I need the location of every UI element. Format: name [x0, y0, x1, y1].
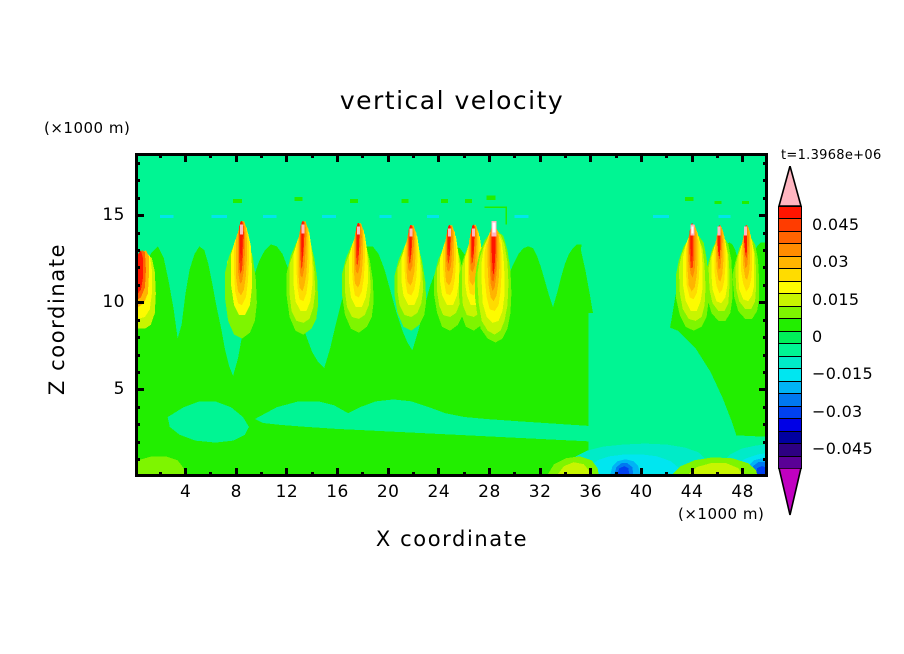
- x-axis-tick: [336, 153, 339, 162]
- y-axis-minor-tick: [135, 458, 140, 461]
- timestamp-annotation: t=1.3968e+06: [781, 148, 882, 163]
- y-axis-minor-tick: [763, 336, 768, 339]
- x-axis-minor-tick: [311, 472, 314, 477]
- x-axis-tick: [539, 468, 542, 477]
- x-axis-minor-tick: [311, 153, 314, 158]
- y-axis-minor-tick: [135, 197, 140, 200]
- x-axis-minor-tick: [513, 472, 516, 477]
- y-axis-minor-tick: [135, 284, 140, 287]
- x-axis-minor-tick: [159, 153, 162, 158]
- x-axis-tick: [437, 153, 440, 162]
- x-axis-tick: [387, 153, 390, 162]
- y-axis-minor-tick: [763, 458, 768, 461]
- colorbar-tick-label: −0.045: [812, 439, 873, 458]
- x-axis-tick: [235, 153, 238, 162]
- x-axis-tick: [741, 468, 744, 477]
- x-axis-tick: [285, 153, 288, 162]
- y-axis-minor-tick: [763, 249, 768, 252]
- y-axis-minor-tick: [763, 371, 768, 374]
- y-axis-tick: [135, 301, 144, 304]
- x-axis-tick: [184, 153, 187, 162]
- x-axis-minor-tick: [716, 472, 719, 477]
- y-axis-minor-tick: [135, 266, 140, 269]
- y-axis-minor-tick: [763, 162, 768, 165]
- x-axis-minor-tick: [615, 153, 618, 158]
- x-axis-tick: [539, 153, 542, 162]
- y-axis-tick-label: 15: [65, 205, 125, 225]
- y-axis-minor-tick: [135, 232, 140, 235]
- x-axis-minor-tick: [260, 472, 263, 477]
- x-axis-minor-tick: [513, 153, 516, 158]
- colorbar-tick-label: −0.03: [812, 402, 863, 421]
- y-axis-minor-tick: [763, 266, 768, 269]
- x-axis-tick: [235, 468, 238, 477]
- y-axis-minor-tick: [135, 423, 140, 426]
- y-axis-minor-tick: [763, 354, 768, 357]
- x-axis-minor-tick: [665, 153, 668, 158]
- colorbar-tick-label: 0: [812, 327, 822, 346]
- x-axis-minor-tick: [412, 472, 415, 477]
- x-axis-tick: [336, 468, 339, 477]
- y-axis-tick: [135, 214, 144, 217]
- y-axis-minor-tick: [135, 354, 140, 357]
- figure-root: vertical velocity (×1000 m) t=1.3968e+06…: [0, 0, 904, 654]
- y-axis-tick-label: 5: [65, 379, 125, 399]
- x-axis-minor-tick: [159, 472, 162, 477]
- y-axis-tick: [759, 301, 768, 304]
- y-axis-minor-tick: [135, 162, 140, 165]
- x-axis-minor-tick: [665, 472, 668, 477]
- x-axis-minor-tick: [716, 153, 719, 158]
- y-axis-tick: [759, 214, 768, 217]
- x-axis-minor-tick: [260, 153, 263, 158]
- colorbar[interactable]: [778, 206, 802, 468]
- y-axis-minor-tick: [135, 336, 140, 339]
- colorbar-top-arrow: [778, 166, 802, 207]
- x-axis-tick-label: 48: [713, 482, 773, 502]
- y-axis-minor-tick: [763, 423, 768, 426]
- x-axis-tick: [488, 468, 491, 477]
- y-axis-minor-tick: [763, 197, 768, 200]
- x-axis-minor-tick: [463, 472, 466, 477]
- x-axis-tick: [437, 468, 440, 477]
- colorbar-tick-label: 0.015: [812, 290, 859, 309]
- colorbar-tick-label: 0.03: [812, 252, 849, 271]
- x-axis-tick: [488, 153, 491, 162]
- y-axis-unit-label: (×1000 m): [44, 119, 130, 137]
- x-axis-minor-tick: [209, 472, 212, 477]
- colorbar-tick-label: −0.015: [812, 364, 873, 383]
- x-axis-tick: [741, 153, 744, 162]
- x-axis-tick: [691, 153, 694, 162]
- y-axis-minor-tick: [135, 249, 140, 252]
- y-axis-tick: [135, 388, 144, 391]
- y-axis-minor-tick: [135, 371, 140, 374]
- colorbar-bottom-arrow: [778, 468, 802, 516]
- x-axis-tick: [691, 468, 694, 477]
- x-axis-tick: [640, 153, 643, 162]
- y-axis-minor-tick: [135, 441, 140, 444]
- x-axis-tick: [640, 468, 643, 477]
- x-axis-minor-tick: [361, 472, 364, 477]
- x-axis-minor-tick: [361, 153, 364, 158]
- y-axis-tick-label: 10: [65, 292, 125, 312]
- y-axis-tick: [759, 388, 768, 391]
- x-axis-tick: [589, 468, 592, 477]
- y-axis-minor-tick: [763, 406, 768, 409]
- y-axis-minor-tick: [763, 232, 768, 235]
- chart-title: vertical velocity: [0, 86, 904, 115]
- x-axis-tick: [184, 468, 187, 477]
- x-axis-title: X coordinate: [0, 527, 904, 551]
- x-axis-minor-tick: [463, 153, 466, 158]
- x-axis-minor-tick: [564, 153, 567, 158]
- x-axis-minor-tick: [564, 472, 567, 477]
- x-axis-minor-tick: [615, 472, 618, 477]
- y-axis-minor-tick: [135, 406, 140, 409]
- y-axis-minor-tick: [763, 441, 768, 444]
- x-axis-tick: [589, 153, 592, 162]
- y-axis-minor-tick: [763, 319, 768, 322]
- x-axis-minor-tick: [209, 153, 212, 158]
- contour-plot-area: [135, 153, 768, 477]
- colorbar-tick-label: 0.045: [812, 215, 859, 234]
- x-axis-tick: [387, 468, 390, 477]
- y-axis-minor-tick: [135, 179, 140, 182]
- y-axis-minor-tick: [135, 319, 140, 322]
- x-axis-minor-tick: [412, 153, 415, 158]
- x-axis-unit-label: (×1000 m): [678, 505, 764, 523]
- x-axis-tick: [285, 468, 288, 477]
- contour-field: [138, 156, 765, 474]
- y-axis-minor-tick: [763, 284, 768, 287]
- y-axis-minor-tick: [763, 179, 768, 182]
